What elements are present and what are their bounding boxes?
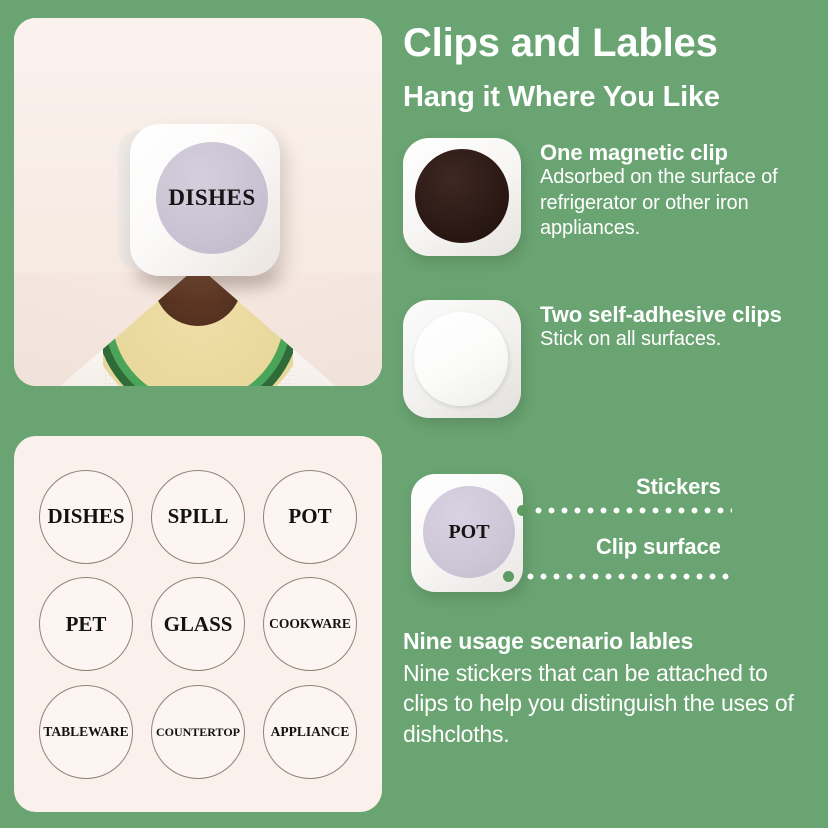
label-circle-tableware[interactable]: TABLEWARE: [39, 685, 133, 779]
dishcloth-right-corner: [293, 296, 363, 386]
feature-text-block: Two self-adhesive clips Stick on all sur…: [540, 300, 782, 353]
stickers-anchor-dot-icon: [517, 505, 528, 516]
page-title: Clips and Lables: [403, 22, 828, 64]
label-circle-glass[interactable]: GLASS: [151, 577, 245, 671]
bottom-title: Nine usage scenario lables: [403, 628, 828, 656]
hero-clip-body: DISHES: [130, 124, 280, 276]
dishcloth-left-corner: [33, 296, 103, 386]
feature-title: Two self-adhesive clips: [540, 302, 782, 327]
clip-surface-callout-label: Clip surface: [596, 534, 721, 560]
label-circle-text: COUNTERTOP: [156, 726, 240, 738]
label-circle-text: SPILL: [168, 506, 229, 527]
adhesive-clip-swatch: [403, 300, 521, 418]
feature-magnetic-clip: One magnetic clip Adsorbed on the surfac…: [403, 138, 820, 256]
labels-row: DISHES SPILL POT: [30, 470, 366, 564]
clip-surface-anchor-dot-icon: [503, 571, 514, 582]
magnet-disc-icon: [415, 149, 509, 243]
hero-clip-sticker-label: DISHES: [168, 185, 255, 211]
hero-clip-sticker: DISHES: [156, 142, 268, 254]
label-circle-appliance[interactable]: APPLIANCE: [263, 685, 357, 779]
infographic-page: DISHES DISHES SPILL POT PET GLASS: [0, 0, 828, 828]
adhesive-disc-icon: [414, 312, 508, 406]
feature-title: One magnetic clip: [540, 140, 820, 165]
callout-clip-sticker: POT: [423, 486, 515, 578]
label-circle-countertop[interactable]: COUNTERTOP: [151, 685, 245, 779]
label-circle-dishes[interactable]: DISHES: [39, 470, 133, 564]
labels-grid-card: DISHES SPILL POT PET GLASS COOKWARE TABL…: [14, 436, 382, 812]
label-circle-text: COOKWARE: [269, 617, 351, 631]
callout-clip-sticker-label: POT: [448, 521, 489, 544]
nine-labels-description: Nine usage scenario lables Nine stickers…: [403, 628, 828, 749]
label-circle-pet[interactable]: PET: [39, 577, 133, 671]
right-content-column: Clips and Lables Hang it Where You Like …: [403, 0, 828, 828]
labels-row: PET GLASS COOKWARE: [30, 577, 366, 671]
label-circle-cookware[interactable]: COOKWARE: [263, 577, 357, 671]
bottom-body: Nine stickers that can be attached to cl…: [403, 658, 803, 750]
product-photo-scene: DISHES: [14, 18, 382, 386]
label-circle-text: PET: [66, 614, 107, 635]
stickers-callout-label: Stickers: [636, 474, 721, 500]
label-circle-text: APPLIANCE: [271, 725, 350, 739]
feature-text-block: One magnetic clip Adsorbed on the surfac…: [540, 138, 820, 242]
clip-anatomy-callout: POT Stickers Clip surface: [403, 472, 828, 597]
page-subtitle: Hang it Where You Like: [403, 82, 828, 114]
label-circle-text: POT: [288, 506, 331, 527]
feature-body: Stick on all surfaces.: [540, 327, 782, 353]
feature-body: Adsorbed on the surface of refrigerator …: [540, 165, 820, 242]
labels-row: TABLEWARE COUNTERTOP APPLIANCE: [30, 685, 366, 779]
label-circle-spill[interactable]: SPILL: [151, 470, 245, 564]
label-circle-text: GLASS: [164, 614, 233, 635]
magnetic-clip-swatch: [403, 138, 521, 256]
stickers-leader-line: [532, 507, 732, 514]
label-circle-text: DISHES: [47, 506, 124, 527]
clip-surface-leader-line: [524, 573, 732, 580]
label-circle-text: TABLEWARE: [43, 725, 128, 739]
feature-adhesive-clips: Two self-adhesive clips Stick on all sur…: [403, 300, 782, 418]
product-photo-card: DISHES: [14, 18, 382, 386]
label-circle-pot[interactable]: POT: [263, 470, 357, 564]
